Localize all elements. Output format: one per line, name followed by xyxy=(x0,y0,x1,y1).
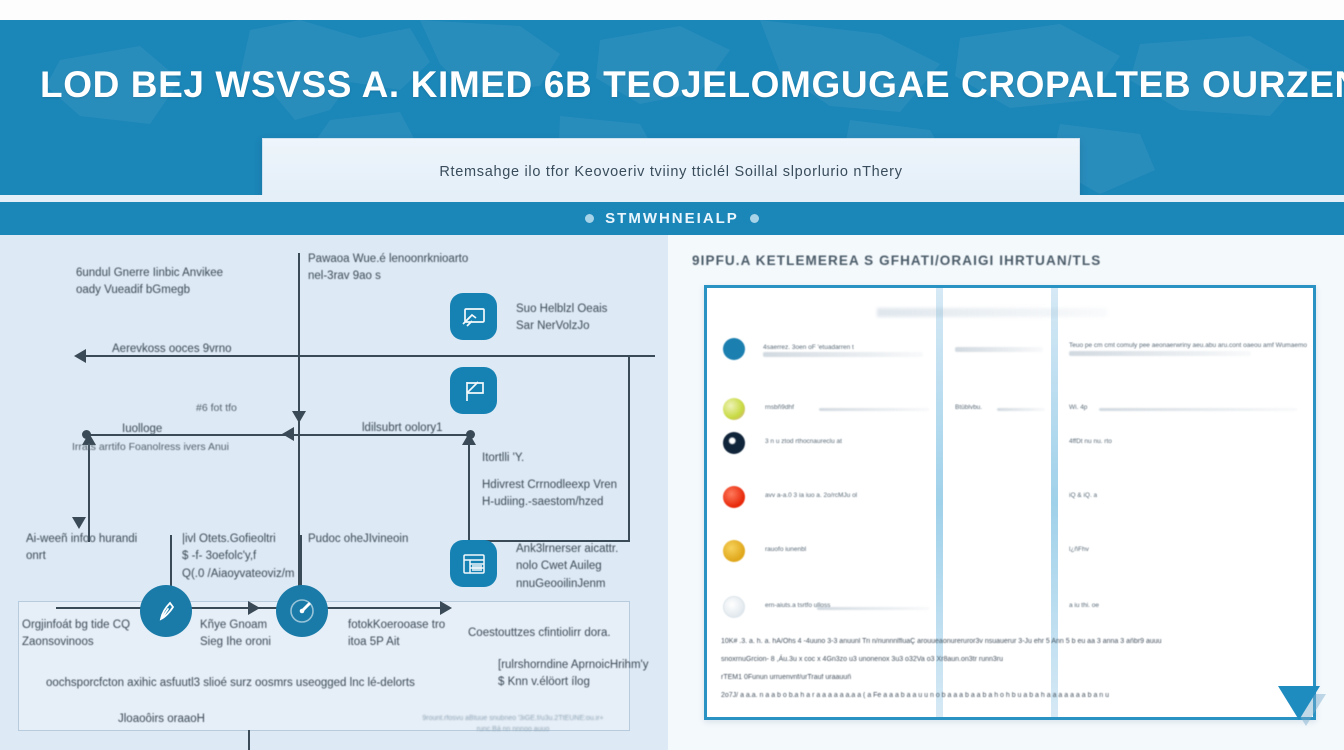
flow-line-4c xyxy=(628,355,630,542)
arrow-right-icon-1 xyxy=(440,601,452,615)
table-cell-col3: Teuo pe cm cmt comuly pee aeonaerwriny a… xyxy=(1069,342,1307,350)
status-bullet-icon xyxy=(723,486,745,508)
table-header-row xyxy=(877,308,1107,317)
table-footer-line-2: snoxrnuGrcion- 8 ,Áu.3u x coc x 4Gn3zo u… xyxy=(721,654,1307,667)
label-timeline-left: Orgjinfoát bg tide CQ Zaonsovinoos xyxy=(22,617,130,652)
table-cell-underline xyxy=(819,408,929,411)
band-dot-left-icon xyxy=(585,214,594,223)
band-spacer xyxy=(0,195,1344,202)
table-footer-line-3: rTEM1 0Funun urruenvnf/urTrauf uraauuñ xyxy=(721,672,1307,685)
label-icon-note-1: Suo Helblzl Oeais Sar NerVolzJo xyxy=(516,301,607,336)
label-flow-left-2: Iuolloge xyxy=(122,421,162,438)
subtitle-text: Rtemsahge ilo tfor Keovoeriv tviiny ttic… xyxy=(439,164,902,180)
label-bottom-col-1: Ai-weeñ infoo hurandi onrt xyxy=(26,531,137,566)
slide-root: LOD BEJ WSVSS A. KIMED 6B TEOJELOMGUGAE … xyxy=(0,0,1344,750)
status-bullet-icon xyxy=(723,432,745,454)
table-row[interactable]: rnsbñ9dhf Btüblvbu. Wi. 4p xyxy=(707,396,1316,422)
label-flow-right-1: Itortlli 'Y. xyxy=(482,450,524,467)
table-cell-col3: 4ffDt nu nu. rto xyxy=(1069,438,1249,446)
flow-line-4 xyxy=(468,440,470,540)
label-top-mid-note: Pawaoa Wue.é lenoonrknioarto nel-3rav 9a… xyxy=(308,251,468,286)
table-cell-col3: l¿ñFhv xyxy=(1069,546,1189,554)
section-band: STMWHNEIALP xyxy=(0,202,1344,235)
label-blur-note-left: 9rount.rfosvu aBtuue snubneo '3iGE.f/u3u… xyxy=(418,713,608,735)
table-row[interactable]: rauofo iunenbl l¿ñFhv xyxy=(707,538,1316,564)
label-icon-note-3-sub: Coestouttzes cfintiolirr dora. xyxy=(468,625,611,642)
left-diagram-panel: 6undul Gnerre Iinbic Anvikee oady Vueadi… xyxy=(0,235,668,750)
table-cell-label: 3 n u ztod rthocnaureclu at xyxy=(765,438,933,446)
table-footer-line-1: 10K# .3. a. h. a. hA/Ohs 4 -4uuno 3-3 an… xyxy=(721,636,1307,649)
label-top-left-note: 6undul Gnerre Iinbic Anvikee oady Vueadi… xyxy=(76,265,223,300)
table-cell-underline xyxy=(817,607,929,610)
subtitle-card: Rtemsahge ilo tfor Keovoeriv tviiny ttic… xyxy=(262,138,1080,195)
label-bottom-col-2: |ivl Otets.Gofieoltri $ -f- 3oefolc'y,f … xyxy=(182,531,294,583)
label-bottom-col-3: Pudoc oheJIvineoin xyxy=(308,531,408,548)
status-bullet-icon xyxy=(723,596,745,618)
document-table-icon[interactable] xyxy=(450,540,497,587)
label-flow-right-2: Hdivrest Crrnodleexp Vren H-udiing.-saes… xyxy=(482,477,617,512)
table-row[interactable]: ern-aiuts.a tsrtfo ulloss a iu thi. oe xyxy=(707,594,1316,620)
requirements-table: 4saerrez. 3oen oF 'etuadarren t Teuo pe … xyxy=(704,285,1316,720)
status-bullet-icon xyxy=(723,540,745,562)
label-flow-left-2-sub: Irrats arrtifo Foanolress ivers Anui xyxy=(72,440,229,456)
arrow-up-icon-2 xyxy=(462,433,476,445)
label-bottom-tag: Jloaoôirs oraaoH xyxy=(118,711,205,728)
pen-circle-icon[interactable] xyxy=(140,585,192,637)
arrow-down-icon xyxy=(292,411,306,423)
table-cell-label: avv a-a.0 3 ia iuo a. 2o/rcMJu ol xyxy=(765,492,933,500)
table-row[interactable]: 4saerrez. 3oen oF 'etuadarren t Teuo pe … xyxy=(707,336,1316,362)
table-cell-ghost-col3 xyxy=(1099,408,1297,411)
table-cell-col3: iQ & iQ. a xyxy=(1069,492,1219,500)
status-bullet-icon xyxy=(723,398,745,420)
table-cell-underline xyxy=(763,352,923,357)
gauge-circle-icon[interactable] xyxy=(276,585,328,637)
right-panel-heading: 9IPFU.A KETLEMEREA S GFHATI/ORAIGI IHRTU… xyxy=(692,253,1312,268)
label-icon-note-3-sub2: [rulrshorndine AprnoicHrihm'y $ Knn v.él… xyxy=(498,657,648,692)
page-title: LOD BEJ WSVSS A. KIMED 6B TEOJELOMGUGAE … xyxy=(40,64,1330,106)
triangle-marker-icon xyxy=(1278,686,1320,720)
arrow-left-icon-1 xyxy=(74,349,86,363)
status-bullet-icon xyxy=(723,338,745,360)
label-flow-mid-tiny: #6 fot tfo xyxy=(196,401,237,417)
table-cell-ghost-col2 xyxy=(997,408,1045,411)
arrow-left-icon-2 xyxy=(282,427,294,441)
table-row[interactable]: avv a-a.0 3 ia iuo a. 2o/rcMJu ol iQ & i… xyxy=(707,484,1316,510)
table-cell-ghost-col3 xyxy=(1069,351,1251,356)
process-diagram: 6undul Gnerre Iinbic Anvikee oady Vueadi… xyxy=(0,235,668,750)
label-flow-mid-arrow: ldilsubrt oolory1 xyxy=(362,420,443,437)
flag-diagram-icon[interactable] xyxy=(450,367,497,414)
flow-line-5 xyxy=(248,730,250,750)
label-flow-left-1: Aerevkoss ooces 9vrno xyxy=(112,341,232,358)
table-cell-label: 4saerrez. 3oen oF 'etuadarren t xyxy=(763,344,931,352)
arrow-down-icon-3 xyxy=(72,517,86,529)
table-cell-col3: a iu thi. oe xyxy=(1069,602,1199,610)
section-band-label: STMWHNEIALP xyxy=(605,210,739,227)
label-timeline-mid: Kñye Gnoam Sieg Ihe oroni xyxy=(200,617,271,652)
flow-line-1b xyxy=(300,355,655,357)
right-table-panel: 9IPFU.A KETLEMEREA S GFHATI/ORAIGI IHRTU… xyxy=(668,235,1344,750)
label-icon-note-3: Ank3lrnerser aicattr. nolo Cwet Auileg n… xyxy=(516,541,618,593)
band-dot-right-icon xyxy=(750,214,759,223)
table-footer-line-4: 2o7J/ a a.a. n a a b o b.a h a r a a a a… xyxy=(721,690,1307,703)
flow-line-2 xyxy=(86,434,300,436)
table-cell-label: rauofo iunenbl xyxy=(765,546,915,554)
header-banner: LOD BEJ WSVSS A. KIMED 6B TEOJELOMGUGAE … xyxy=(0,20,1344,195)
arrow-right-icon-2 xyxy=(248,601,260,615)
table-row[interactable]: 3 n u ztod rthocnaureclu at 4ffDt nu nu.… xyxy=(707,430,1316,456)
label-bottom-summary: oochsporcfcton axihic asfuutl3 slioé sur… xyxy=(46,675,415,692)
presentation-chart-icon[interactable] xyxy=(450,293,497,340)
label-timeline-right: fotokKoerooase tro itoa 5P Ait xyxy=(348,617,445,652)
section-band-inner: STMWHNEIALP xyxy=(0,202,1344,235)
table-cell-ghost-col2 xyxy=(955,347,1043,352)
